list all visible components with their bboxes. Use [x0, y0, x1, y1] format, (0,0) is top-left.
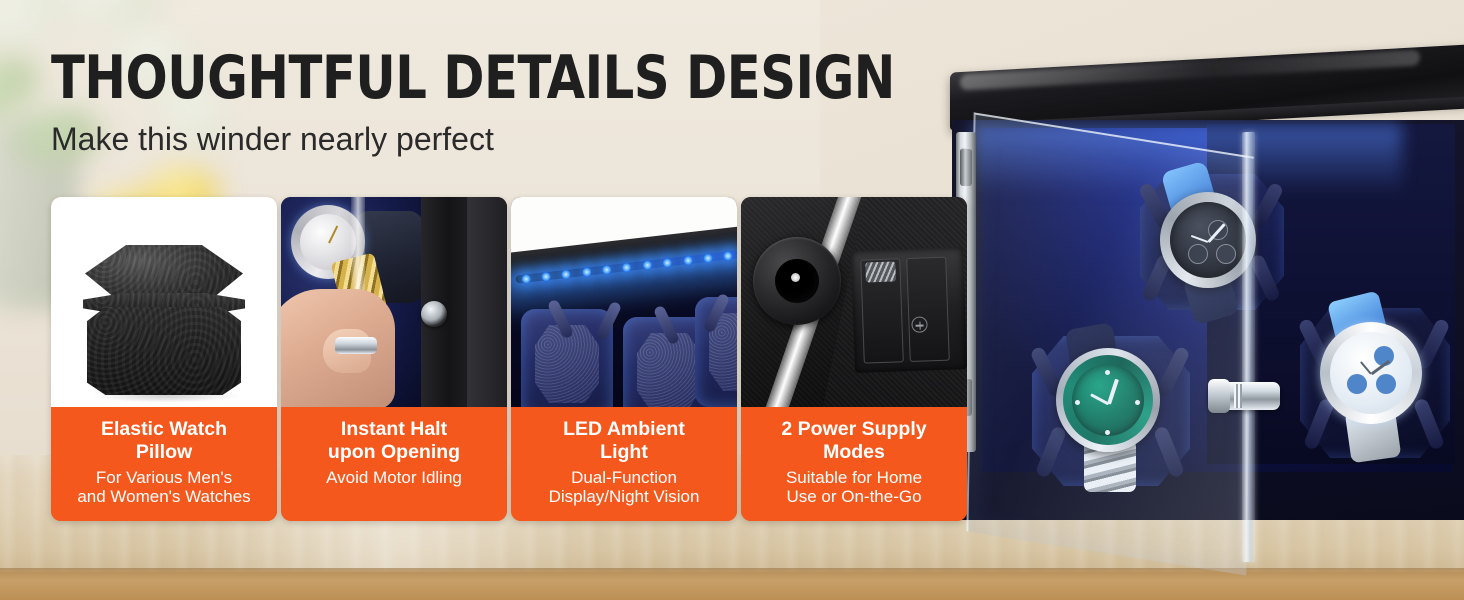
- card-title-line2: Light: [519, 441, 729, 464]
- feature-card-power-supply-modes[interactable]: 2 Power Supply Modes Suitable for Home U…: [741, 197, 967, 521]
- door-knob[interactable]: [1208, 382, 1280, 410]
- card-caption: LED Ambient Light Dual-Function Display/…: [511, 407, 737, 521]
- page-subtitle: Make this winder nearly perfect: [51, 122, 871, 157]
- card-title-line2: Pillow: [59, 441, 269, 464]
- card-sub-line1: Dual-Function: [519, 468, 729, 488]
- acrylic-door[interactable]: [966, 112, 1253, 575]
- pillow-box-body: [87, 307, 241, 395]
- card-photo-instant-halt: [281, 197, 507, 407]
- card-sub-line1: Avoid Motor Idling: [289, 468, 499, 488]
- card-caption: Elastic Watch Pillow For Various Men's a…: [51, 407, 277, 521]
- card-photo-power-modes: [741, 197, 967, 407]
- card-sub-line2: Use or On-the-Go: [749, 487, 959, 507]
- feature-card-elastic-watch-pillow[interactable]: Elastic Watch Pillow For Various Men's a…: [51, 197, 277, 521]
- table-front-edge: [0, 572, 1464, 600]
- card-title-line2: Modes: [749, 441, 959, 464]
- card-sub-line1: For Various Men's: [59, 468, 269, 488]
- card-title-line1: Elastic Watch: [59, 418, 269, 441]
- watch-winder-product: [930, 48, 1464, 548]
- page-title: THOUGHTFUL DETAILS DESIGN: [51, 48, 805, 108]
- lock-icon: [421, 301, 447, 327]
- door-knob-closeup: [335, 337, 377, 354]
- battery-bay-2: [906, 257, 950, 362]
- watch-slot-3: [1292, 302, 1462, 472]
- card-caption: 2 Power Supply Modes Suitable for Home U…: [741, 407, 967, 521]
- acrylic-door-edge: [1242, 132, 1255, 562]
- card-title-line1: 2 Power Supply: [749, 418, 959, 441]
- pillow-box-shadow: [91, 389, 241, 403]
- card-photo-watch-pillow: [51, 197, 277, 407]
- feature-card-list: Elastic Watch Pillow For Various Men's a…: [51, 197, 967, 521]
- hinge-pin-top: [960, 148, 972, 186]
- door-frame-panel-2: [467, 197, 507, 407]
- dc-power-jack-icon: [753, 237, 841, 325]
- battery-spring: [865, 261, 896, 282]
- card-caption: Instant Halt upon Opening Avoid Motor Id…: [281, 407, 507, 501]
- card-title-line1: Instant Halt: [289, 418, 499, 441]
- card-sub-line2: and Women's Watches: [59, 487, 269, 507]
- feature-card-instant-halt[interactable]: Instant Halt upon Opening Avoid Motor Id…: [281, 197, 507, 521]
- card-photo-led-light: [511, 197, 737, 407]
- battery-compartment: [851, 247, 967, 373]
- card-title-line2: upon Opening: [289, 441, 499, 464]
- card-sub-line2: Display/Night Vision: [519, 487, 729, 507]
- feature-card-led-ambient-light[interactable]: LED Ambient Light Dual-Function Display/…: [511, 197, 737, 521]
- card-title-line1: LED Ambient: [519, 418, 729, 441]
- headline-block: THOUGHTFUL DETAILS DESIGN Make this wind…: [51, 48, 871, 157]
- card-sub-line1: Suitable for Home: [749, 468, 959, 488]
